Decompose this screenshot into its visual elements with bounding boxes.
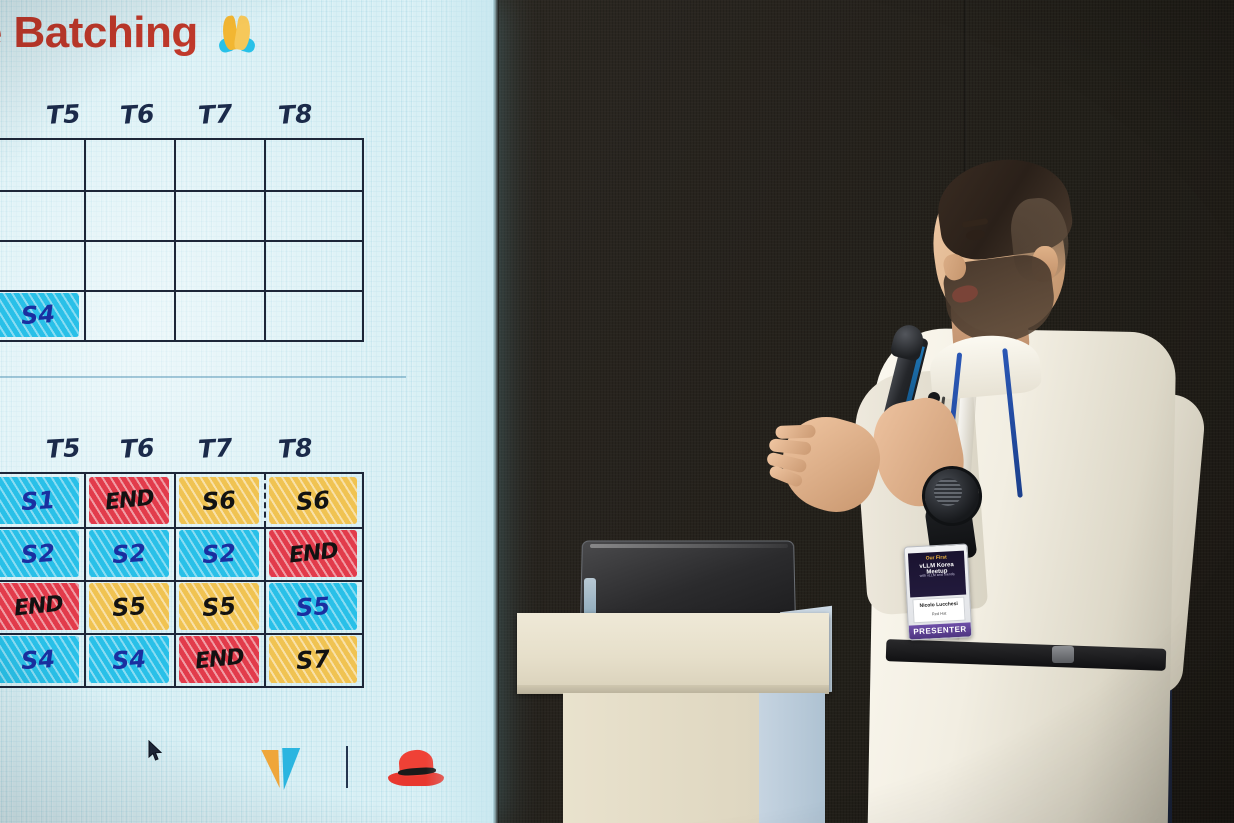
cell-text: S1 xyxy=(20,485,56,515)
laptop-bezel-highlight xyxy=(590,544,788,548)
table-top-headers: T4 T5 T6 T7 T8 xyxy=(0,92,370,138)
cell-r1c5: S6 xyxy=(266,474,360,527)
screen-edge-falloff xyxy=(426,0,496,823)
header-t7: T7 xyxy=(197,433,233,464)
cell-r2c5: END xyxy=(266,527,360,580)
cell-text: S7 xyxy=(295,644,331,674)
screen-frame-edge xyxy=(493,0,499,823)
cell-text: S2 xyxy=(201,538,237,568)
table-bottom-grid: S1 END S6 S6 S2 S2 xyxy=(0,472,364,688)
podium-body xyxy=(563,693,759,823)
cell-text: END xyxy=(287,539,338,569)
logo-separator xyxy=(346,746,348,788)
vllm-logo xyxy=(264,750,310,788)
cell-r4c5: S7 xyxy=(266,633,360,686)
header-t5: T5 xyxy=(45,433,81,464)
cell-r4c4: END xyxy=(176,633,262,686)
podium-body-right xyxy=(759,693,825,823)
cell-text: S6 xyxy=(201,485,237,515)
cell-text: S4 xyxy=(20,644,56,674)
cell-text: S4 xyxy=(20,300,56,330)
header-t7: T7 xyxy=(197,99,233,130)
cell-r2c3: S2 xyxy=(86,527,172,580)
table-top-grid: S3 S4 S4 xyxy=(0,138,364,342)
slide-title-text: ative Batching xyxy=(0,8,198,57)
cell-r1c4: S6 xyxy=(176,474,262,527)
grid-line-h xyxy=(0,190,362,192)
header-t5: T5 xyxy=(45,99,81,130)
header-t6: T6 xyxy=(119,433,155,464)
cell-text: S5 xyxy=(201,591,237,621)
cell-text: END xyxy=(193,645,244,675)
belt-buckle xyxy=(1052,646,1074,663)
header-t8: T8 xyxy=(277,433,313,464)
water-bottle xyxy=(584,578,596,618)
badge-attendee-org: Red Hat xyxy=(914,610,964,618)
cell-text: END xyxy=(103,486,154,516)
conference-badge: Our First vLLM Korea Meetup with vLLM an… xyxy=(904,543,973,640)
header-t8: T8 xyxy=(277,99,313,130)
badge-role-band: PRESENTER xyxy=(909,622,972,639)
badge-attendee-name: Nicolo Lucchesi xyxy=(914,601,964,610)
cell-r3c4: S5 xyxy=(176,580,262,633)
slide-divider xyxy=(0,376,406,378)
static-batching-table: T4 T5 T6 T7 T8 xyxy=(0,92,370,342)
cell-r1c2: S1 xyxy=(0,474,82,527)
header-t6: T6 xyxy=(119,99,155,130)
grid-line-h xyxy=(0,240,362,242)
table-bottom-headers: T4 T5 T6 T7 T8 xyxy=(0,428,370,474)
badge-header-panel: Our First vLLM Korea Meetup with vLLM an… xyxy=(908,551,966,598)
smartwatch-face xyxy=(934,478,962,506)
slide-title: ative Batching xyxy=(0,8,374,58)
cell-text: S5 xyxy=(111,591,147,621)
folded-hands-emoji xyxy=(219,14,255,54)
mouse-cursor-icon xyxy=(148,740,164,762)
projection-screen: ative Batching T4 T5 T6 T7 T8 xyxy=(0,0,496,823)
continuous-batching-table: T4 T5 T6 T7 T8 xyxy=(0,428,370,698)
cell-text: S2 xyxy=(20,538,56,568)
laptop-screen xyxy=(580,540,796,620)
cell-r2c2: S2 xyxy=(0,527,82,580)
cell-text: S2 xyxy=(111,538,147,568)
cell-r4c2: S4 xyxy=(0,633,82,686)
cell-r2c4: S2 xyxy=(176,527,262,580)
cell-r4c2: S4 xyxy=(0,290,82,340)
cell-r3c2: END xyxy=(0,580,82,633)
cell-r4c3: S4 xyxy=(86,633,172,686)
podium-top xyxy=(517,613,829,693)
slide-footer xyxy=(0,738,466,798)
cell-text: S5 xyxy=(295,591,331,621)
cell-text: S6 xyxy=(295,485,331,515)
cell-r1c3: END xyxy=(86,474,172,527)
screenshot-root: ative Batching T4 T5 T6 T7 T8 xyxy=(0,0,1234,823)
badge-name-panel: Nicolo Lucchesi Red Hat xyxy=(912,597,965,624)
cell-r3c3: S5 xyxy=(86,580,172,633)
cell-r3c5: S5 xyxy=(266,580,360,633)
cell-text: END xyxy=(12,592,63,622)
cell-text: S4 xyxy=(111,644,147,674)
